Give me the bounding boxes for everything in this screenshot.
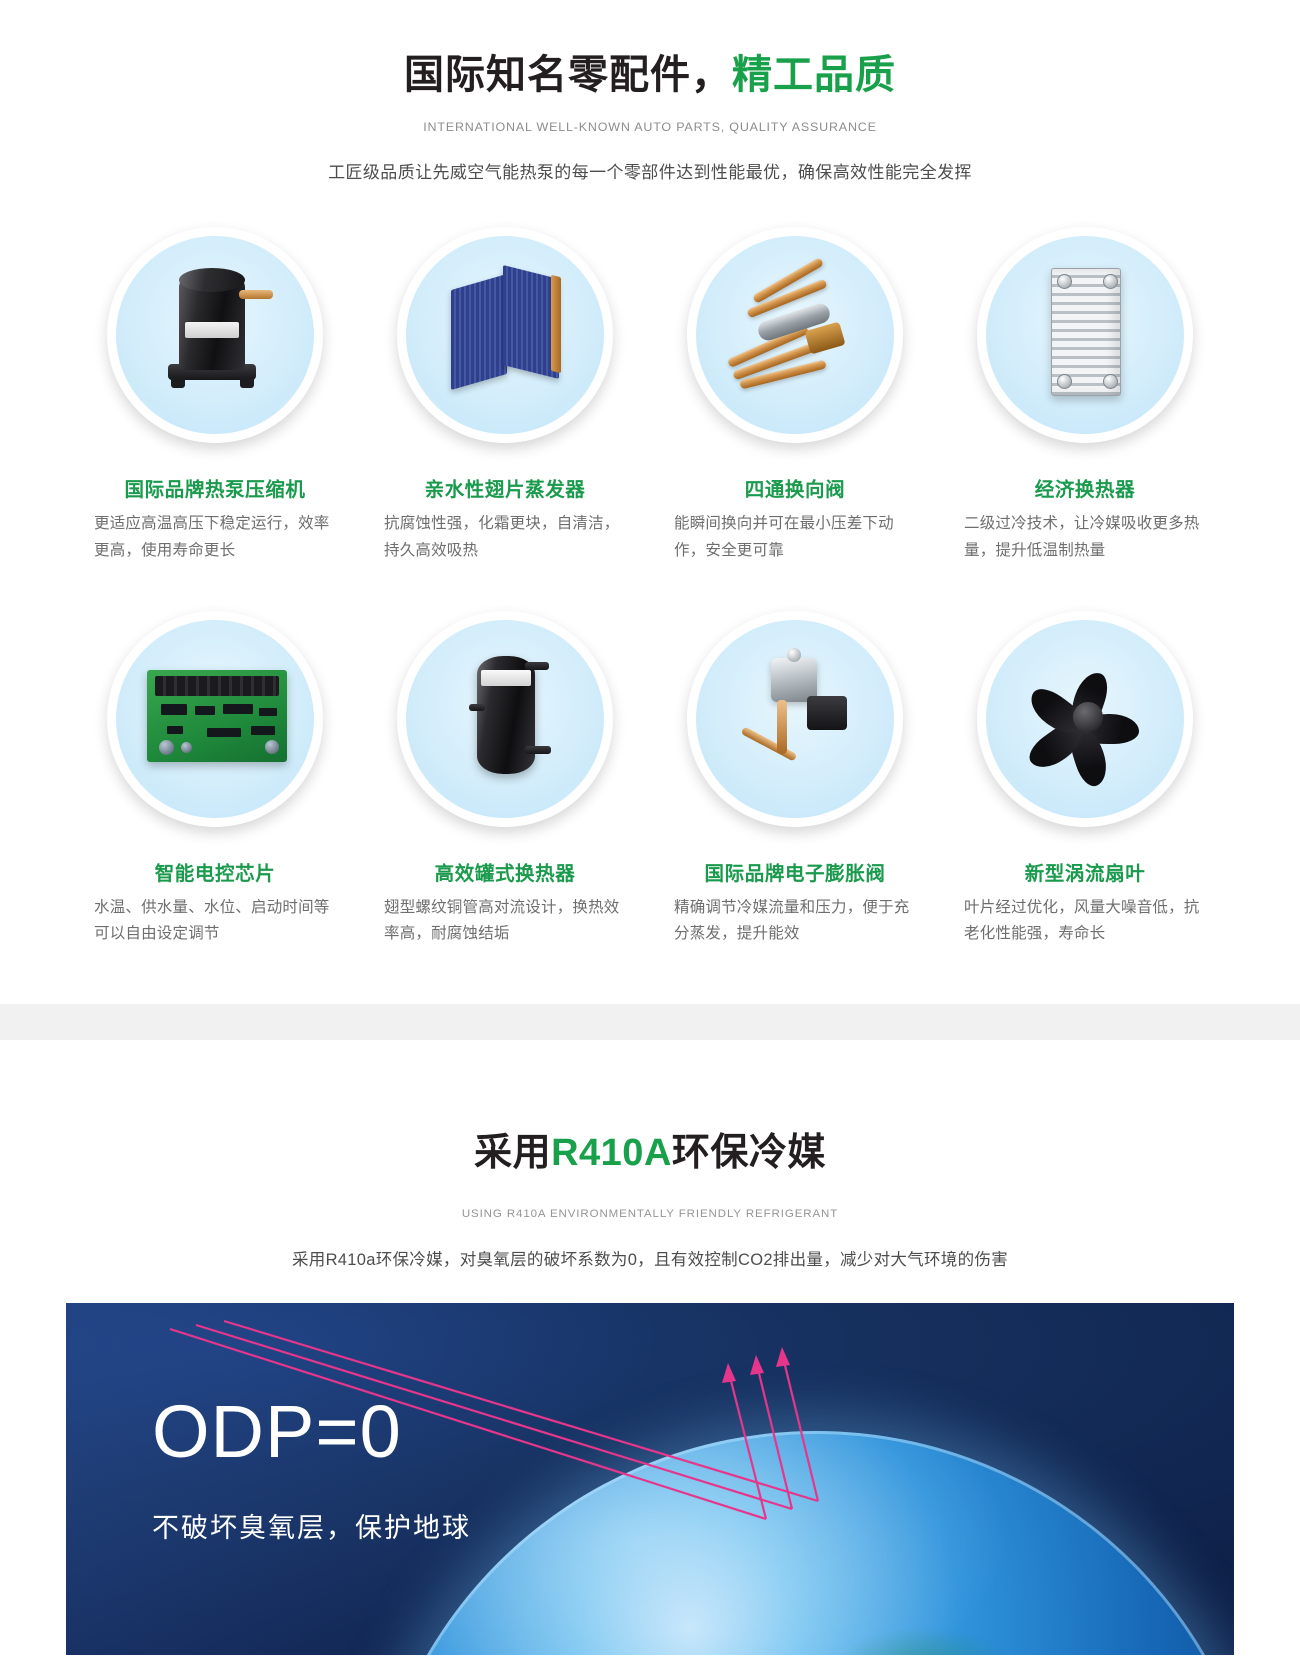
feature-image-circle: [397, 227, 613, 443]
odp-headline: ODP=0: [152, 1395, 471, 1469]
feature-card: 高效罐式换热器 翅型螺纹铜管高对流设计，换热效率高，耐腐蚀结垢: [360, 611, 650, 948]
feature-description: 抗腐蚀性强，化霜更块，自清洁，持久高效吸热: [384, 511, 626, 564]
refrigerant-description: 采用R410a环保冷媒，对臭氧层的破坏系数为0，且有效控制CO2排出量，减少对大…: [0, 1246, 1300, 1270]
feature-card: 亲水性翅片蒸发器 抗腐蚀性强，化霜更块，自清洁，持久高效吸热: [360, 227, 650, 564]
feature-title: 新型涡流扇叶: [964, 857, 1206, 886]
four-way-reversing-valve-icon: [715, 260, 875, 410]
finned-evaporator-coil-icon: [425, 260, 585, 410]
odp-subline: 不破坏臭氧层，保护地球: [152, 1506, 471, 1545]
feature-title: 高效罐式换热器: [384, 857, 626, 886]
feature-card: 经济换热器 二级过冷技术，让冷媒吸收更多热量，提升低温制热量: [940, 227, 1230, 564]
feature-image-circle: [977, 611, 1193, 827]
feature-title: 智能电控芯片: [94, 857, 336, 886]
banner-text-block: ODP=0 不破坏臭氧层，保护地球: [152, 1395, 471, 1545]
feature-card: 国际品牌电子膨胀阀 精确调节冷媒流量和压力，便于充分蒸发，提升能效: [650, 611, 940, 948]
refrigerant-title-suffix: 环保冷媒: [672, 1132, 826, 1174]
feature-card: 国际品牌热泵压缩机 更适应高温高压下稳定运行，效率更高，使用寿命更长: [70, 227, 360, 564]
scroll-compressor-icon: [135, 260, 295, 410]
section-divider: [0, 1004, 1300, 1040]
axial-fan-blade-icon: [1005, 644, 1165, 794]
feature-card: 新型涡流扇叶 叶片经过优化，风量大噪音低，抗老化性能强，寿命长: [940, 611, 1230, 948]
feature-description: 叶片经过优化，风量大噪音低，抗老化性能强，寿命长: [964, 895, 1206, 948]
feature-description: 更适应高温高压下稳定运行，效率更高，使用寿命更长: [94, 511, 336, 564]
feature-title: 四通换向阀: [674, 473, 916, 502]
feature-title: 经济换热器: [964, 473, 1206, 502]
page-title: 国际知名零配件，精工品质: [0, 52, 1300, 99]
feature-title: 国际品牌电子膨胀阀: [674, 857, 916, 886]
feature-card: 四通换向阀 能瞬间换向并可在最小压差下动作，安全更可靠: [650, 227, 940, 564]
feature-description: 精确调节冷媒流量和压力，便于充分蒸发，提升能效: [674, 895, 916, 948]
electronic-expansion-valve-icon: [715, 644, 875, 794]
feature-description: 能瞬间换向并可在最小压差下动作，安全更可靠: [674, 511, 916, 564]
page-description: 工匠级品质让先威空气能热泵的每一个零部件达到性能最优，确保高效性能完全发挥: [0, 158, 1300, 183]
control-pcb-icon: [135, 644, 295, 794]
refrigerant-title-prefix: 采用: [474, 1132, 551, 1174]
page-title-accent: 精工品质: [732, 53, 896, 97]
feature-description: 水温、供水量、水位、启动时间等可以自由设定调节: [94, 895, 336, 948]
feature-image-circle: [107, 611, 323, 827]
feature-title: 国际品牌热泵压缩机: [94, 473, 336, 502]
plate-heat-exchanger-icon: [1005, 260, 1165, 410]
feature-card: 智能电控芯片 水温、供水量、水位、启动时间等可以自由设定调节: [70, 611, 360, 948]
refrigerant-subtitle-english: USING R410A ENVIRONMENTALLY FRIENDLY REF…: [0, 1208, 1300, 1220]
international-parts-section: 国际知名零配件，精工品质 INTERNATIONAL WELL-KNOWN AU…: [0, 0, 1300, 1040]
feature-description: 翅型螺纹铜管高对流设计，换热效率高，耐腐蚀结垢: [384, 895, 626, 948]
refrigerant-title: 采用R410A环保冷媒: [0, 1121, 1300, 1176]
feature-image-circle: [107, 227, 323, 443]
feature-image-circle: [687, 227, 903, 443]
odp-banner: ODP=0 不破坏臭氧层，保护地球: [66, 1303, 1234, 1655]
feature-description: 二级过冷技术，让冷媒吸收更多热量，提升低温制热量: [964, 511, 1206, 564]
feature-image-circle: [977, 227, 1193, 443]
page-title-dark: 国际知名零配件，: [404, 53, 732, 97]
feature-title: 亲水性翅片蒸发器: [384, 473, 626, 502]
tank-heat-exchanger-icon: [425, 644, 585, 794]
parts-feature-grid: 国际品牌热泵压缩机 更适应高温高压下稳定运行，效率更高，使用寿命更长 亲水性翅片…: [70, 183, 1230, 948]
feature-image-circle: [687, 611, 903, 827]
refrigerant-section: 采用R410A环保冷媒 USING R410A ENVIRONMENTALLY …: [0, 1040, 1300, 1655]
refrigerant-title-accent: R410A: [551, 1132, 672, 1174]
page-subtitle-english: INTERNATIONAL WELL-KNOWN AUTO PARTS, QUA…: [0, 120, 1300, 133]
feature-image-circle: [397, 611, 613, 827]
